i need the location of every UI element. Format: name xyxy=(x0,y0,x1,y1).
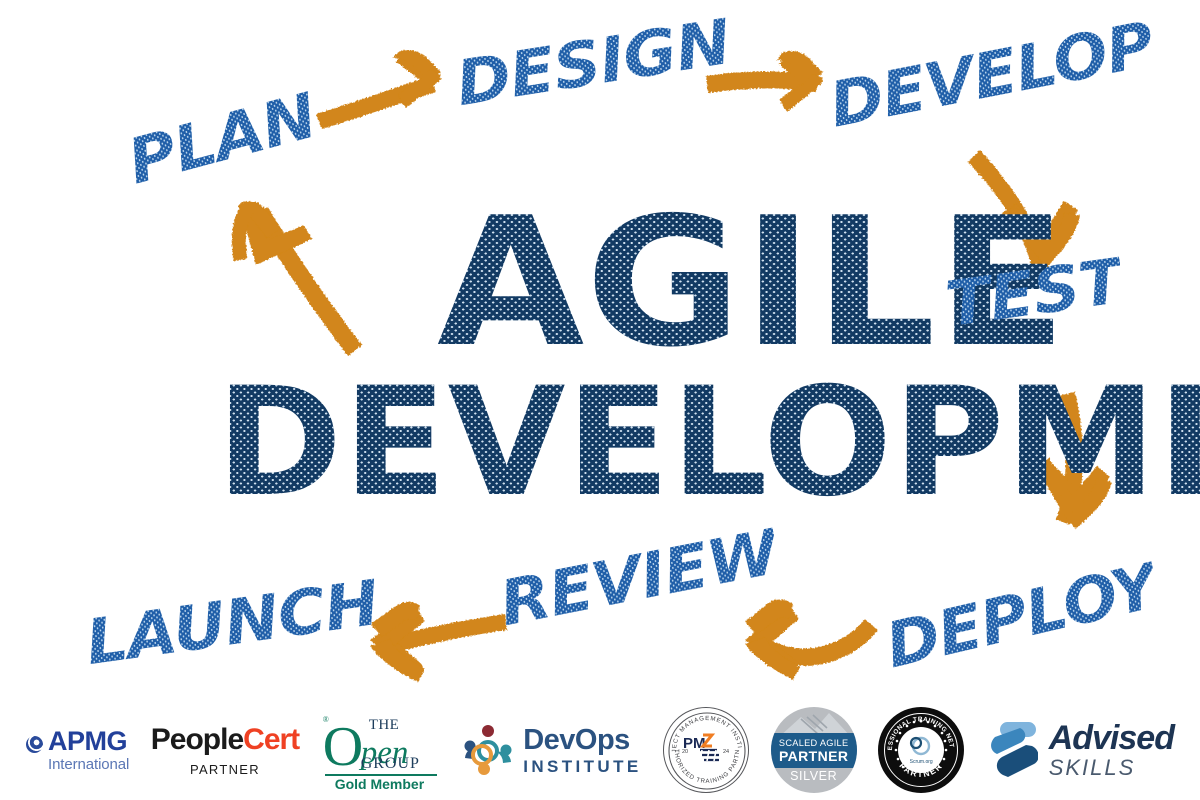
stage-label-deploy: DEPLOY xyxy=(880,555,1163,678)
stage-label-review: REVIEW xyxy=(495,521,783,636)
arrow-launch-to-plan xyxy=(232,201,362,356)
logo-devops-institute: DevOps INSTITUTE xyxy=(462,724,641,776)
devops-institute-subtitle: INSTITUTE xyxy=(523,758,641,775)
open-group-group: GROUP xyxy=(361,755,420,773)
open-group-the: THE xyxy=(369,717,400,734)
page-title-line2: DEVELOPMENT xyxy=(216,368,1200,518)
arrow-deploy-to-review xyxy=(745,600,878,681)
apmg-swirl-icon xyxy=(26,736,43,753)
logo-advised-skills: Advised SKILLS xyxy=(986,721,1174,779)
apmg-name: APMG xyxy=(48,728,129,755)
peoplecert-name-part2: Cert xyxy=(243,723,299,756)
scaled-agile-line2: PARTNER xyxy=(771,748,857,764)
open-group-membership: Gold Member xyxy=(335,776,424,792)
stage-label-develop: DEVELOP xyxy=(825,13,1159,136)
logo-the-open-group-gold-member: ® O THE pen GROUP Gold Member xyxy=(321,711,441,789)
ptn-core: Scrum.org xyxy=(898,727,944,773)
logo-scrum-org-professional-training-network-partner: PROFESSIONAL TRAINING NETWORK PARTNER xyxy=(878,707,964,793)
svg-text:24: 24 xyxy=(723,749,729,755)
arrow-plan-to-design xyxy=(316,50,442,129)
peoplecert-partner-label: PARTNER xyxy=(190,763,260,776)
peoplecert-name-part1: People xyxy=(151,723,243,756)
logo-peoplecert-partner: PeopleCert PARTNER xyxy=(151,725,299,776)
apmg-subtitle: International xyxy=(48,757,129,772)
scaled-agile-line1: SCALED AGILE xyxy=(771,738,857,748)
advised-skills-subtitle: SKILLS xyxy=(1049,757,1174,779)
logo-apmg-international: APMG International xyxy=(26,728,129,772)
open-group-o: O xyxy=(323,719,363,775)
advised-skills-mark-icon xyxy=(986,721,1038,779)
partner-logo-strip: APMG International PeopleCert PARTNER ® … xyxy=(0,700,1200,800)
logo-pmi-authorized-training-partner: PROJECT MANAGEMENT INSTITUTE AUTHORIZED … xyxy=(663,707,749,793)
scaled-agile-line3: SILVER xyxy=(771,769,857,783)
ptn-core-text: Scrum.org xyxy=(910,759,933,765)
agile-development-infographic: AGILE DEVELOPMENT PLAN DESIGN DEVELOP TE… xyxy=(0,0,1200,800)
svg-text:20: 20 xyxy=(682,749,688,755)
stage-label-design: DESIGN xyxy=(452,11,735,115)
advised-skills-name: Advised xyxy=(1049,721,1174,755)
arrow-review-to-launch xyxy=(370,602,507,682)
devops-institute-name: DevOps xyxy=(523,726,641,755)
stage-label-plan: PLAN xyxy=(122,84,323,193)
pmi-mark-icon: PM 20 24 xyxy=(681,733,731,767)
logo-scaled-agile-partner-silver: SCALED AGILE PARTNER SILVER xyxy=(771,707,857,793)
stage-label-launch: LAUNCH xyxy=(82,572,382,674)
devops-institute-mark-icon xyxy=(462,724,514,776)
